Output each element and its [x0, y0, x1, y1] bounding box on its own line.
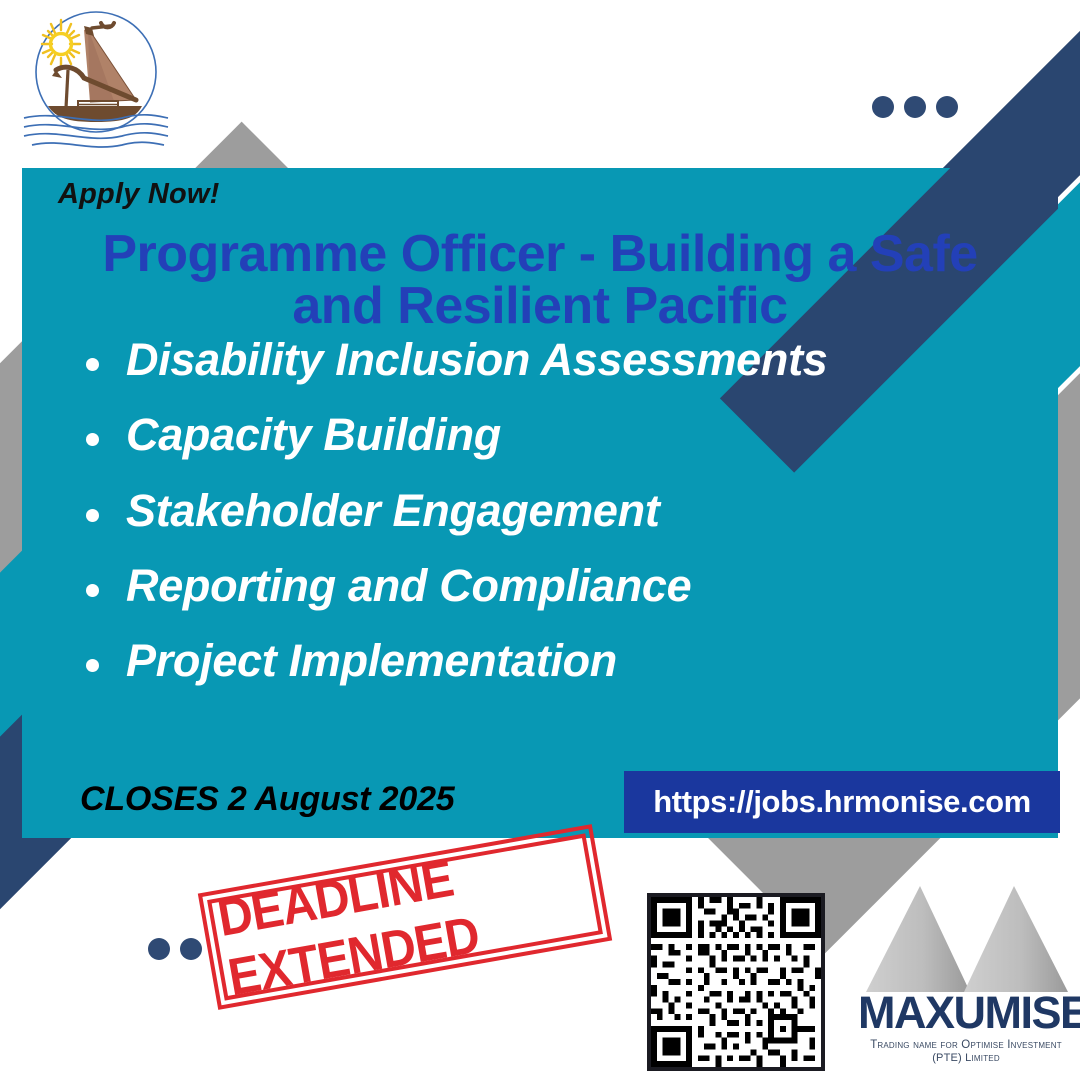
company-logo: MAXUMISE Trading name for Optimise Inves… [858, 880, 1074, 1060]
list-item: Reporting and Compliance [78, 562, 1008, 609]
dot [180, 938, 202, 960]
stamp-label: DEADLINE EXTENDED [214, 827, 597, 1007]
closing-date-label: CLOSES 2 August 2025 [80, 780, 455, 819]
company-tagline-line2: (PTE) Limited [858, 1052, 1074, 1064]
page-title: Programme Officer - Building a Safe and … [50, 228, 1030, 332]
job-advertisement-poster: Apply Now! Programme Officer - Building … [0, 0, 1080, 1080]
decorative-dots-top-right [872, 96, 958, 118]
list-item: Capacity Building [78, 411, 1008, 458]
qr-code-image [651, 897, 821, 1067]
list-item: Stakeholder Engagement [78, 487, 1008, 534]
dot [872, 96, 894, 118]
decorative-dots-bottom-left [148, 938, 202, 960]
dot [904, 96, 926, 118]
pacific-sailing-canoe-icon [18, 6, 173, 154]
application-url-banner[interactable]: https://jobs.hrmonise.com [624, 771, 1060, 833]
application-url-text: https://jobs.hrmonise.com [653, 784, 1031, 820]
mountain-peaks-icon [858, 880, 1074, 992]
qr-code[interactable] [647, 893, 825, 1071]
responsibilities-list: Disability Inclusion Assessments Capacit… [78, 336, 1008, 712]
deadline-extended-stamp: DEADLINE EXTENDED [198, 824, 612, 1010]
company-tagline-line1: Trading name for Optimise Investment [858, 1038, 1074, 1052]
dot [936, 96, 958, 118]
list-item: Disability Inclusion Assessments [78, 336, 1008, 383]
company-name: MAXUMISE [858, 990, 1074, 1035]
list-item: Project Implementation [78, 637, 1008, 684]
dot [148, 938, 170, 960]
apply-now-label: Apply Now! [58, 178, 220, 211]
